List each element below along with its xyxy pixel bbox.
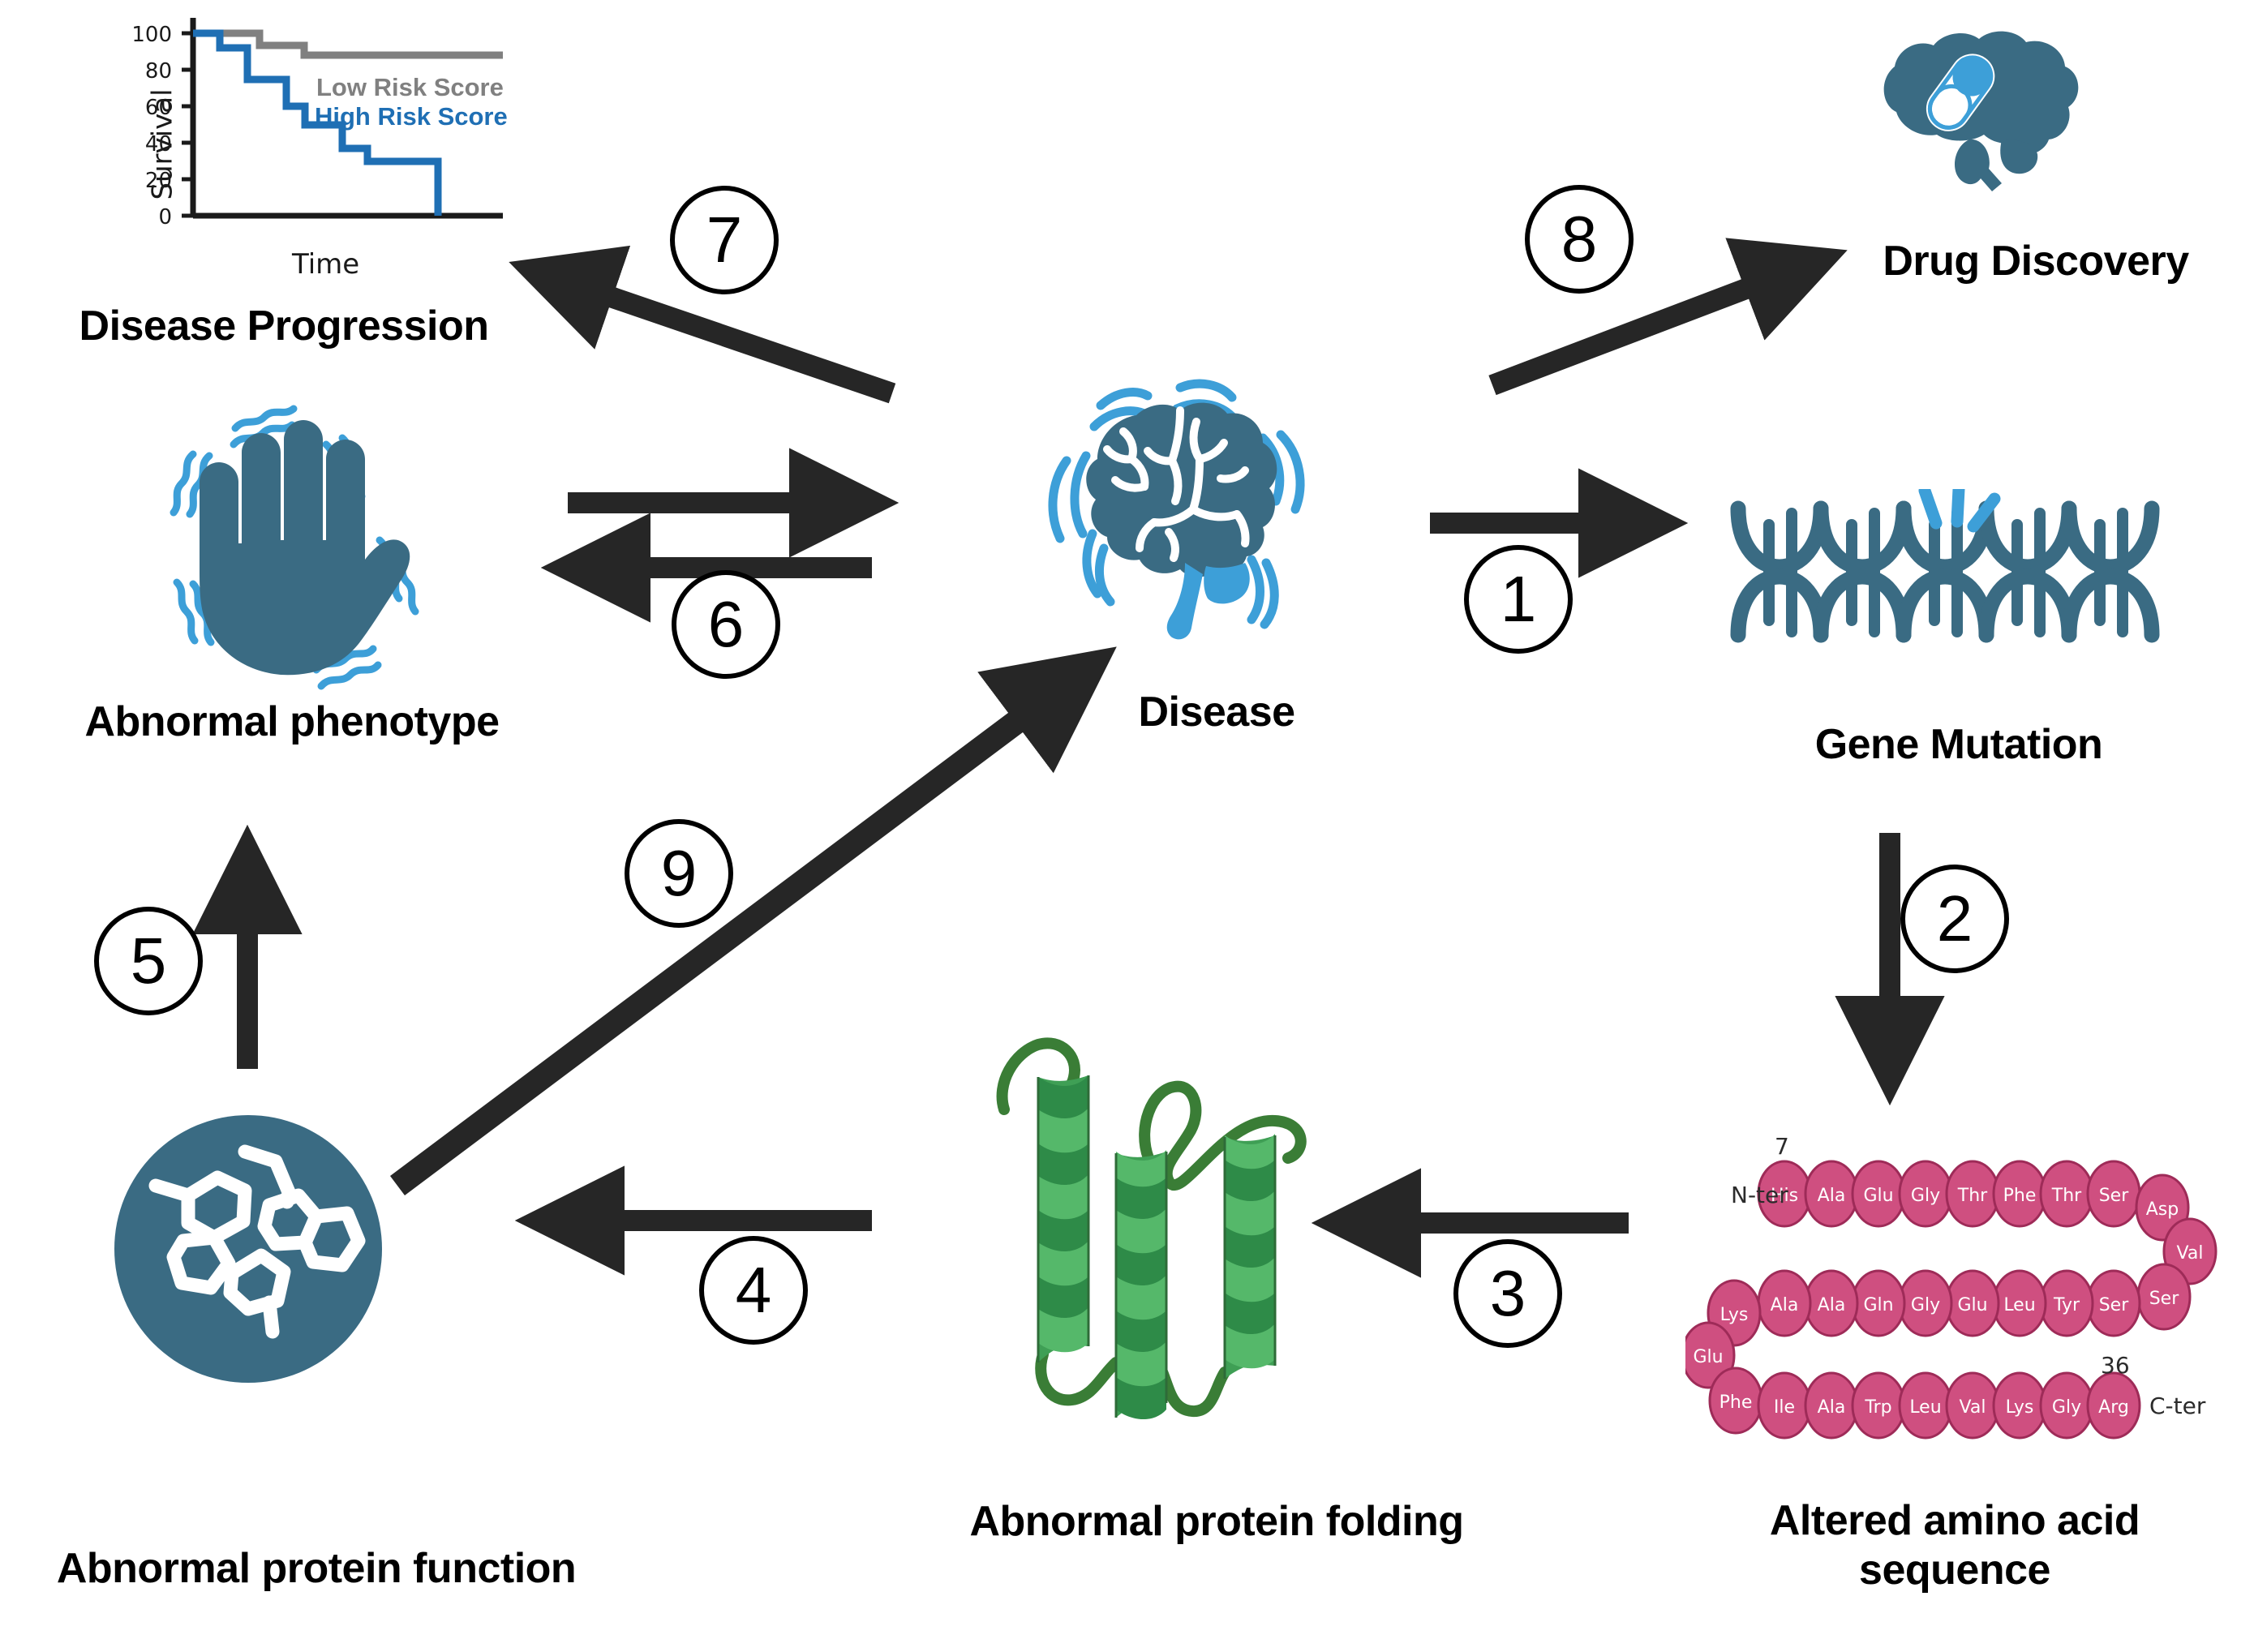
residue-end-number: 36 — [2101, 1352, 2130, 1379]
svg-text:Lys: Lys — [1720, 1305, 1749, 1325]
node-disease: Disease — [981, 365, 1452, 779]
label-drug-discovery: Drug Discovery — [1817, 237, 2254, 286]
arrow-6 — [568, 503, 872, 568]
svg-text:Lys: Lys — [2006, 1397, 2034, 1418]
svg-text:Gln: Gln — [1863, 1295, 1893, 1315]
svg-text:Gly: Gly — [2052, 1397, 2081, 1418]
aa-row-1: His Ala Glu Gly Thr Phe Thr Ser — [1758, 1161, 2140, 1226]
arrow-badge-2-number: 2 — [1937, 882, 1973, 956]
label-abnormal-protein-function: Abnormal protein function — [16, 1544, 616, 1594]
svg-text:Phe: Phe — [2003, 1186, 2037, 1206]
arrow-8 — [1492, 274, 1784, 385]
svg-text:Val: Val — [1960, 1397, 1986, 1418]
chart-ytick-0: 0 — [122, 205, 172, 230]
arrow-badge-1-number: 1 — [1501, 562, 1537, 637]
arrow-badge-5-number: 5 — [131, 924, 167, 998]
label-disease: Disease — [981, 688, 1452, 737]
label-altered-amino-acid-sequence: Altered amino acid sequence — [1695, 1496, 2214, 1596]
arrow-badge-7: 7 — [670, 186, 779, 294]
arrow-badge-9: 9 — [625, 819, 733, 928]
arrow-badge-7-number: 7 — [706, 203, 743, 277]
svg-text:Thr: Thr — [2051, 1186, 2082, 1206]
residue-start-number: 7 — [1775, 1133, 1789, 1160]
svg-text:Ala: Ala — [1818, 1397, 1846, 1418]
chart-x-axis-label: Time — [292, 248, 359, 281]
label-abnormal-protein-folding: Abnormal protein folding — [852, 1497, 1582, 1547]
node-altered-amino-acid-sequence: His Ala Glu Gly Thr Phe Thr Ser Asp Val … — [1646, 1115, 2254, 1650]
svg-text:Phe: Phe — [1719, 1392, 1753, 1413]
molecule-circle-icon — [110, 1111, 386, 1387]
survival-curve-chart: 100 80 60 40 20 0 Survival Time Low Risk… — [122, 6, 527, 282]
svg-text:Gly: Gly — [1911, 1295, 1940, 1315]
svg-text:Ala: Ala — [1818, 1186, 1846, 1206]
chart-ytick-80: 80 — [122, 59, 172, 84]
label-gene-mutation: Gene Mutation — [1699, 720, 2218, 770]
arrow-7 — [573, 284, 892, 393]
diagram-canvas: 100 80 60 40 20 0 Survival Time Low Risk… — [0, 0, 2254, 1652]
c-terminus-label: C-ter — [2149, 1392, 2206, 1419]
chart-y-axis-label: Survival — [147, 88, 179, 200]
svg-text:Leu: Leu — [1909, 1397, 1941, 1418]
aa-row-3: Phe Ile Ala Trp Leu Val Lys Gly Arg — [1710, 1368, 2140, 1438]
dna-helix-icon — [1724, 489, 2178, 659]
label-abnormal-phenotype: Abnormal phenotype — [41, 697, 543, 747]
brain-icon — [1026, 365, 1407, 689]
svg-text:Ser: Ser — [2099, 1295, 2130, 1315]
svg-text:Ala: Ala — [1818, 1295, 1846, 1315]
svg-text:Ser: Ser — [2149, 1289, 2180, 1309]
svg-text:Ser: Ser — [2099, 1186, 2130, 1206]
svg-text:Thr: Thr — [1957, 1186, 1988, 1206]
n-terminus-label: N-ter — [1731, 1182, 1788, 1208]
svg-text:Asp: Asp — [2146, 1199, 2179, 1220]
arrow-badge-9-number: 9 — [661, 836, 698, 911]
arrow-badge-6-number: 6 — [708, 587, 745, 662]
helix-1 — [1038, 1075, 1088, 1362]
svg-text:Gly: Gly — [1911, 1186, 1940, 1206]
arrow-badge-1: 1 — [1464, 545, 1573, 654]
chart-ytick-100: 100 — [122, 23, 172, 47]
protein-helix-ribbon-icon — [957, 1006, 1314, 1435]
arrow-badge-2: 2 — [1900, 865, 2009, 973]
svg-text:Ala: Ala — [1771, 1295, 1799, 1315]
node-disease-progression: 100 80 60 40 20 0 Survival Time Low Risk… — [0, 0, 568, 349]
aa-row-2: Ser Tyr Leu Glu Gly Gln Ala Ala Lys — [1708, 1271, 2140, 1345]
chart-legend-low-risk: Low Risk Score — [316, 73, 504, 102]
svg-text:Ile: Ile — [1774, 1397, 1795, 1418]
svg-text:Arg: Arg — [2098, 1397, 2129, 1418]
node-abnormal-protein-function: Abnormal protein function — [89, 1111, 543, 1606]
svg-text:Glu: Glu — [1863, 1186, 1893, 1206]
svg-text:Glu: Glu — [1693, 1347, 1723, 1367]
arrow-badge-8-number: 8 — [1561, 202, 1598, 277]
node-drug-discovery: Drug Discovery — [1817, 16, 2254, 357]
node-gene-mutation: Gene Mutation — [1699, 469, 2218, 809]
helix-3 — [1225, 1134, 1275, 1379]
arrow-badge-5: 5 — [94, 907, 203, 1015]
helix-2 — [1116, 1150, 1166, 1419]
svg-text:Glu: Glu — [1957, 1295, 1987, 1315]
svg-text:Tyr: Tyr — [2053, 1295, 2080, 1315]
arrow-badge-3-number: 3 — [1490, 1256, 1526, 1331]
aa-corner-right: Asp Val Ser — [2136, 1175, 2216, 1329]
svg-text:Leu: Leu — [2003, 1295, 2035, 1315]
amino-acid-chain-icon: His Ala Glu Gly Thr Phe Thr Ser Asp Val … — [1685, 1115, 2253, 1456]
node-abnormal-phenotype: Abnormal phenotype — [89, 381, 495, 762]
brain-with-pill-icon — [1833, 16, 2174, 235]
arrow-badge-8: 8 — [1525, 185, 1634, 294]
chart-legend-high-risk: High Risk Score — [315, 102, 508, 131]
label-disease-progression: Disease Progression — [0, 302, 568, 351]
arrow-badge-6: 6 — [672, 570, 780, 679]
arrow-badge-3: 3 — [1453, 1239, 1562, 1348]
arrow-badge-4-number: 4 — [736, 1253, 772, 1328]
svg-text:Trp: Trp — [1864, 1397, 1891, 1418]
tremoring-hand-icon — [122, 381, 446, 706]
arrow-badge-4: 4 — [699, 1236, 808, 1345]
node-abnormal-protein-folding: Abnormal protein folding — [933, 1006, 1501, 1606]
svg-text:Val: Val — [2177, 1243, 2204, 1264]
